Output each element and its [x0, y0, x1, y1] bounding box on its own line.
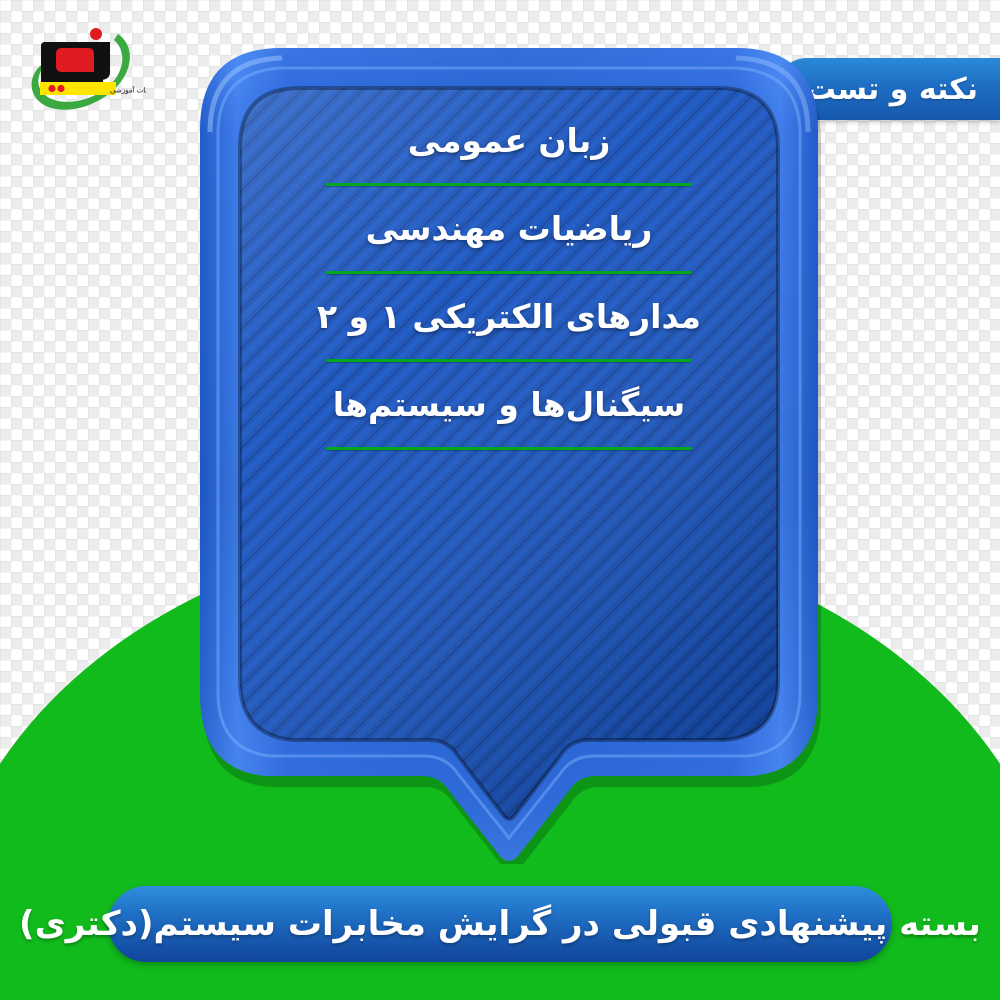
badge-label: نکته و تست	[806, 72, 978, 107]
subject-label: زبان عمومی	[408, 121, 611, 160]
caption-banner[interactable]: بسته پیشنهادی قبولی در گرایش مخابرات سیس…	[108, 886, 892, 962]
list-item[interactable]: زبان عمومی	[248, 98, 770, 183]
nasir-logo-icon: مرکز خدمات آموزشی	[14, 12, 146, 122]
subject-label: مدارهای الکتریکی ۱ و ۲	[317, 297, 701, 336]
caption-label: بسته پیشنهادی قبولی در گرایش مخابرات سیس…	[19, 904, 981, 944]
list-item[interactable]: سیگنال‌ها و سیستم‌ها	[248, 362, 770, 447]
subject-label: سیگنال‌ها و سیستم‌ها	[333, 385, 686, 424]
list-item[interactable]: مدارهای الکتریکی ۱ و ۲	[248, 274, 770, 359]
subject-label: ریاضیات مهندسی	[366, 209, 653, 248]
subject-list: زبان عمومی ریاضیات مهندسی مدارهای الکتری…	[248, 98, 770, 698]
poster-canvas: مرکز خدمات آموزشی نکته و تست	[0, 0, 1000, 1000]
list-item[interactable]: ریاضیات مهندسی	[248, 186, 770, 271]
svg-text:مرکز خدمات آموزشی: مرکز خدمات آموزشی	[110, 86, 146, 95]
list-divider	[326, 447, 692, 450]
speech-bubble: زبان عمومی ریاضیات مهندسی مدارهای الکتری…	[196, 44, 822, 864]
